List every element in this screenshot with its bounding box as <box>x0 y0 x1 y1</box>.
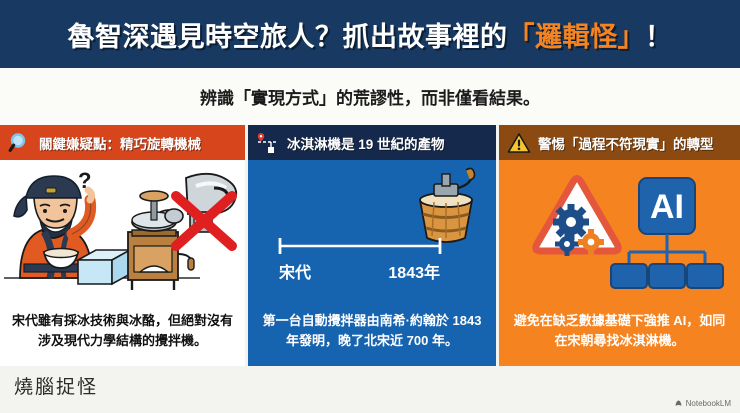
title-lead: 魯智深遇見時空旅人？抓出故事裡的 <box>68 22 508 52</box>
column-2-heading: 冰淇淋機是 19 世紀的產物 <box>287 133 445 153</box>
timeline-pin-icon <box>256 131 280 155</box>
column-3-header: 警惕「過程不符現實」的轉型 <box>499 125 740 160</box>
timeline-start-label: 宋代 <box>278 263 311 282</box>
column-1-heading: 關鍵嫌疑點：精巧旋轉機械 <box>39 133 201 153</box>
column-1-caption-text: 宋代雖有採冰技術與冰酪，但絕對沒有涉及現代力學結構的攪拌機。 <box>9 311 236 350</box>
column-suspect-point: 關鍵嫌疑點：精巧旋轉機械 ? <box>0 125 245 366</box>
column-2-caption: 第一台自動攪拌器由南希·約翰於 1843 年發明，晚了北宋近 700 年。 <box>248 295 496 366</box>
column-2-caption-text: 第一台自動攪拌器由南希·約翰於 1843 年發明，晚了北宋近 700 年。 <box>257 311 487 350</box>
page-title: 魯智深遇見時空旅人？抓出故事裡的「邏輯怪」！ <box>68 15 673 54</box>
brand-name: 燒腦捉怪 <box>14 372 98 399</box>
title-band: 魯智深遇見時空旅人？抓出故事裡的「邏輯怪」！ <box>0 0 740 68</box>
title-tail: ！ <box>645 22 673 52</box>
column-1-header: 關鍵嫌疑點：精巧旋轉機械 <box>0 125 245 160</box>
ice-cube <box>78 250 130 284</box>
subtitle-band: 辨識「實現方式」的荒謬性，而非僅看結果。 <box>0 68 740 125</box>
column-3-caption-text: 避免在缺乏數據基礎下強推 AI，如同在宋朝尋找冰淇淋機。 <box>508 311 731 350</box>
column-3-illustration: AI <box>499 160 740 295</box>
column-3-heading: 警惕「過程不符現實」的轉型 <box>538 133 714 153</box>
notebooklm-logo-icon <box>674 399 683 408</box>
column-3-caption: 避免在缺乏數據基礎下強推 AI，如同在宋朝尋找冰淇淋機。 <box>499 295 740 366</box>
magnifier-icon <box>8 131 32 155</box>
columns-container: 關鍵嫌疑點：精巧旋轉機械 ? <box>0 125 740 366</box>
title-accent: 「邏輯怪」 <box>508 22 646 52</box>
ai-label: AI <box>650 188 684 226</box>
column-2-header: 冰淇淋機是 19 世紀的產物 <box>248 125 496 160</box>
column-2-illustration: 宋代 1843年 <box>248 160 496 295</box>
column-timeline-evidence: 冰淇淋機是 19 世紀的產物 <box>245 125 499 366</box>
notebooklm-label: NotebookLM <box>686 399 731 408</box>
warning-triangle-icon <box>507 131 531 155</box>
column-1-caption: 宋代雖有採冰技術與冰酪，但絕對沒有涉及現代力學結構的攪拌機。 <box>0 295 245 366</box>
timeline-end-label: 1843年 <box>388 263 440 282</box>
infographic-root: 魯智深遇見時空旅人？抓出故事裡的「邏輯怪」！ 辨識「實現方式」的荒謬性，而非僅看… <box>0 0 740 413</box>
column-1-illustration: ? <box>0 160 245 295</box>
column-ai-warning: 警惕「過程不符現實」的轉型 <box>499 125 740 366</box>
page-subtitle: 辨識「實現方式」的荒謬性，而非僅看結果。 <box>200 84 540 109</box>
notebooklm-attribution: NotebookLM <box>674 399 731 408</box>
footer: 燒腦捉怪 NotebookLM <box>0 366 740 413</box>
